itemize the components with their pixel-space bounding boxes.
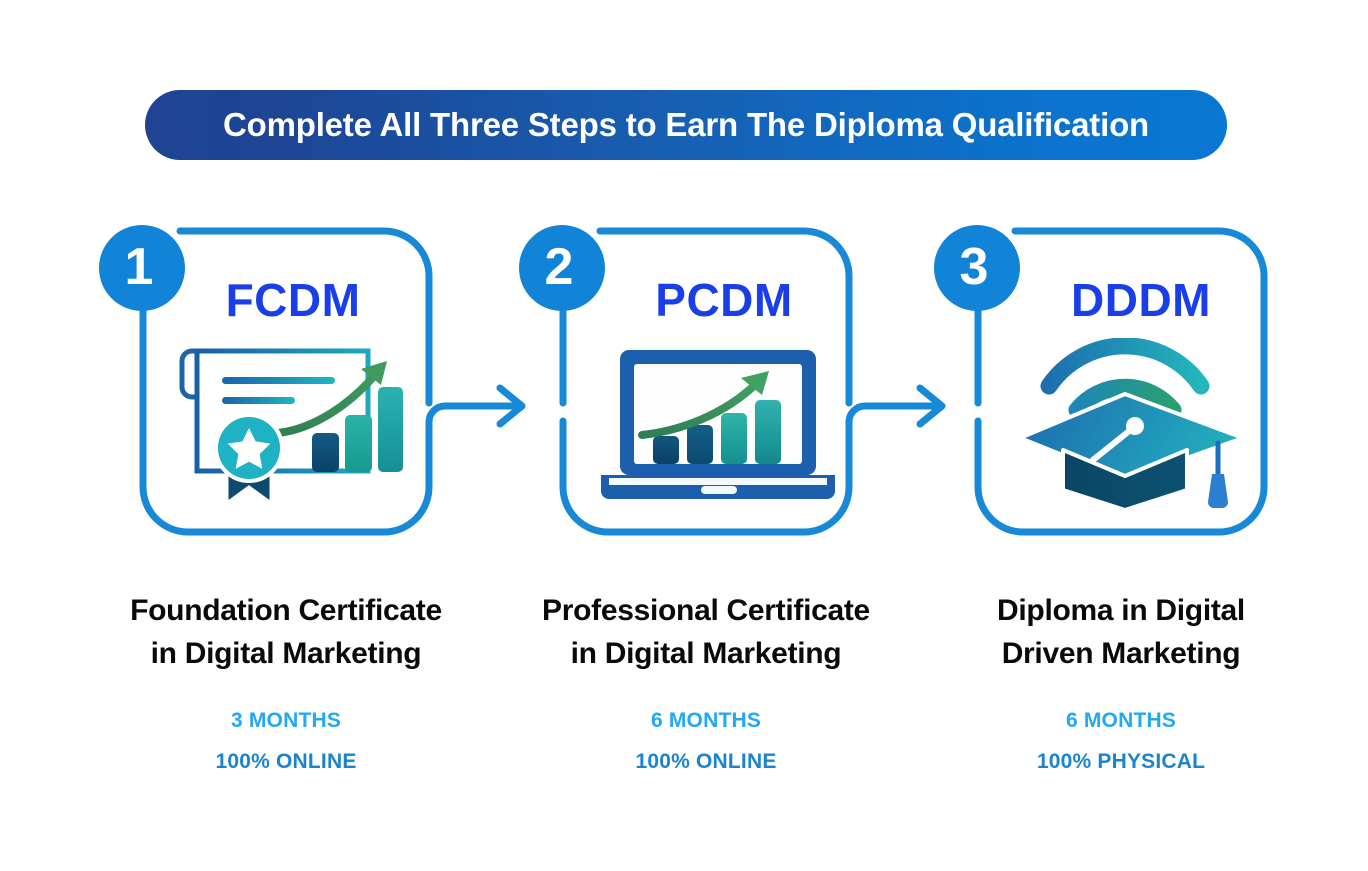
acronym-label-3: DDDM bbox=[931, 273, 1311, 327]
step-card-2[interactable]: 2 PCDM bbox=[516, 225, 896, 785]
acronym-label-2: PCDM bbox=[516, 273, 896, 327]
step-card-3[interactable]: 3 DDDM bbox=[931, 225, 1311, 785]
certificate-icon-graphic bbox=[175, 343, 405, 508]
header-banner: Complete All Three Steps to Earn The Dip… bbox=[145, 90, 1227, 160]
card-frame-1: 1 FCDM bbox=[96, 225, 476, 560]
caption-2: Professional Certificate in Digital Mark… bbox=[516, 590, 896, 783]
mode-label-3: 100% PHYSICAL bbox=[931, 742, 1311, 783]
mode-label-2: 100% ONLINE bbox=[516, 742, 896, 783]
card-frame-2: 2 PCDM bbox=[516, 225, 896, 560]
acronym-label-1: FCDM bbox=[96, 273, 476, 327]
duration-label-3: 6 MONTHS bbox=[931, 701, 1311, 742]
caption-title-2: Professional Certificate in Digital Mark… bbox=[516, 590, 896, 675]
caption-title-3: Diploma in Digital Driven Marketing bbox=[931, 590, 1311, 675]
card-frame-3: 3 DDDM bbox=[931, 225, 1311, 560]
diploma-pathway-infographic: Complete All Three Steps to Earn The Dip… bbox=[0, 0, 1368, 871]
caption-meta-1: 3 MONTHS 100% ONLINE bbox=[96, 701, 476, 783]
graduation-cap-wifi-icon bbox=[931, 335, 1311, 515]
caption-title-line2: in Digital Marketing bbox=[516, 633, 896, 676]
mode-label-1: 100% ONLINE bbox=[96, 742, 476, 783]
certificate-icon bbox=[96, 335, 476, 515]
caption-title-1: Foundation Certificate in Digital Market… bbox=[96, 590, 476, 675]
laptop-growth-chart-graphic bbox=[593, 345, 843, 505]
step-card-1[interactable]: 1 FCDM bbox=[96, 225, 476, 785]
caption-title-line1: Diploma in Digital bbox=[931, 590, 1311, 633]
duration-label-2: 6 MONTHS bbox=[516, 701, 896, 742]
caption-meta-2: 6 MONTHS 100% ONLINE bbox=[516, 701, 896, 783]
steps-row: 1 FCDM bbox=[0, 225, 1368, 785]
caption-3: Diploma in Digital Driven Marketing 6 MO… bbox=[931, 590, 1311, 783]
duration-label-1: 3 MONTHS bbox=[96, 701, 476, 742]
caption-title-line1: Professional Certificate bbox=[516, 590, 896, 633]
caption-1: Foundation Certificate in Digital Market… bbox=[96, 590, 476, 783]
laptop-growth-chart-icon bbox=[516, 335, 896, 515]
caption-title-line2: in Digital Marketing bbox=[96, 633, 476, 676]
caption-title-line1: Foundation Certificate bbox=[96, 590, 476, 633]
caption-meta-3: 6 MONTHS 100% PHYSICAL bbox=[931, 701, 1311, 783]
graduation-cap-wifi-graphic bbox=[1015, 338, 1255, 513]
page-title: Complete All Three Steps to Earn The Dip… bbox=[223, 106, 1149, 144]
caption-title-line2: Driven Marketing bbox=[931, 633, 1311, 676]
